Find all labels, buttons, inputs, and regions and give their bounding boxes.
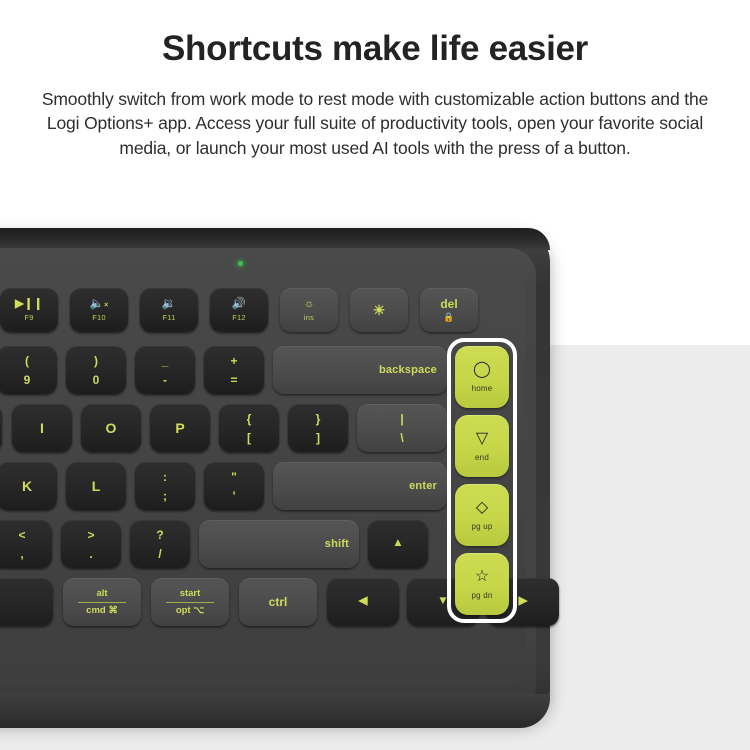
key-sub-label: ins — [304, 314, 314, 322]
key-label: pg up — [471, 522, 492, 531]
key-comma[interactable]: < , — [0, 520, 52, 568]
key-sub-label: F9 — [24, 314, 33, 322]
key-upper-legend: ? — [156, 529, 163, 541]
diamond-icon: ◇ — [476, 500, 488, 516]
key-lower-legend: 9 — [24, 374, 31, 386]
key-quote[interactable]: " ' — [204, 462, 264, 510]
key-backspace[interactable]: backspace — [273, 346, 447, 394]
key-bottom-legend: opt ⌥ — [176, 606, 204, 616]
key-p[interactable]: P — [150, 404, 210, 452]
key-arrow-up[interactable]: ▲ — [368, 520, 428, 568]
key-label: del — [440, 298, 457, 310]
key-start-opt[interactable]: start opt ⌥ — [151, 578, 229, 626]
key-semicolon[interactable]: : ; — [135, 462, 195, 510]
keyboard-bottom-lip — [0, 694, 550, 728]
key-lower-legend: = — [230, 374, 237, 386]
key-bracket-right[interactable]: } ] — [288, 404, 348, 452]
brightness-up-icon: ☀ — [373, 303, 386, 317]
key-upper-legend: | — [400, 413, 403, 425]
key-upper-legend: : — [163, 471, 167, 483]
key-label: L — [92, 479, 101, 493]
key-label: end — [475, 453, 489, 462]
volume-mute-icon: 🔈× — [90, 299, 108, 311]
key-end-shortcut[interactable]: ▽ end — [455, 415, 509, 477]
key-equals[interactable]: + = — [204, 346, 264, 394]
brightness-down-icon: ☼ — [304, 299, 315, 311]
key-label: ctrl — [269, 596, 288, 608]
key-lower-legend: . — [89, 548, 92, 560]
key-label: pg dn — [471, 591, 492, 600]
key-lower-legend: ' — [233, 490, 236, 502]
key-spacebar-partial[interactable] — [0, 578, 53, 626]
key-lower-legend: - — [163, 374, 167, 386]
key-o[interactable]: O — [81, 404, 141, 452]
key-label: backspace — [379, 364, 437, 376]
key-del[interactable]: del 🔒 — [420, 288, 478, 332]
key-shift-right[interactable]: shift — [199, 520, 359, 568]
key-label: home — [472, 384, 493, 393]
key-sub-label: F11 — [163, 314, 176, 322]
arrow-up-icon: ▲ — [392, 538, 403, 550]
lock-icon: 🔒 — [443, 313, 454, 322]
key-f12-volume-up[interactable]: 🔊 F12 — [210, 288, 268, 332]
key-f11-volume-down[interactable]: 🔉 F11 — [140, 288, 198, 332]
key-label: I — [40, 421, 44, 435]
play-pause-icon: ▶❙❙ — [15, 299, 43, 311]
key-top-legend: alt — [96, 589, 107, 599]
key-pgup-shortcut[interactable]: ◇ pg up — [455, 484, 509, 546]
key-upper-legend: > — [87, 529, 94, 541]
key-divider — [78, 602, 126, 603]
key-backslash[interactable]: | \ — [357, 404, 447, 452]
key-period[interactable]: > . — [61, 520, 121, 568]
key-l[interactable]: L — [66, 462, 126, 510]
page-title: Shortcuts make life easier — [0, 30, 750, 69]
key-lower-legend: ; — [163, 490, 167, 502]
key-label: shift — [325, 538, 349, 550]
arrow-down-icon: ▼ — [437, 596, 448, 608]
key-upper-legend: " — [231, 471, 237, 483]
volume-up-icon: 🔊 — [232, 299, 246, 311]
key-brightness-down[interactable]: ☼ ins — [280, 288, 338, 332]
arrow-left-icon: ◀ — [359, 596, 368, 608]
circle-icon: ◯ — [473, 362, 491, 378]
key-lower-legend: 0 — [93, 374, 100, 386]
key-label: P — [175, 421, 184, 435]
key-alt-cmd[interactable]: alt cmd ⌘ — [63, 578, 141, 626]
keyboard-photo: ◀◀ F8 ▶❙❙ F9 🔈× F10 🔉 F11 🔊 F12 ☼ ins ☀ … — [0, 228, 550, 728]
key-slash[interactable]: ? / — [130, 520, 190, 568]
key-bottom-legend: cmd ⌘ — [86, 606, 118, 616]
key-sub-label: F12 — [232, 314, 246, 322]
key-arrow-left[interactable]: ◀ — [327, 578, 399, 626]
key-i[interactable]: I — [12, 404, 72, 452]
key-lower-legend: / — [158, 548, 161, 560]
key-top-legend: start — [180, 589, 201, 599]
key-ctrl[interactable]: ctrl — [239, 578, 317, 626]
key-f10-mute[interactable]: 🔈× F10 — [70, 288, 128, 332]
star-icon: ☆ — [475, 569, 489, 585]
key-label: enter — [409, 480, 437, 492]
volume-down-icon: 🔉 — [162, 299, 176, 311]
key-brightness-up[interactable]: ☀ — [350, 288, 408, 332]
key-k[interactable]: K — [0, 462, 57, 510]
key-home-shortcut[interactable]: ◯ home — [455, 346, 509, 408]
key-upper-legend: _ — [162, 355, 169, 367]
key-upper-legend: ( — [25, 355, 29, 367]
key-lower-legend: ] — [316, 432, 320, 444]
key-upper-legend: + — [230, 355, 237, 367]
key-divider — [166, 602, 214, 603]
key-sub-label: F10 — [92, 314, 106, 322]
key-upper-legend: ) — [94, 355, 98, 367]
key-lower-legend: [ — [247, 432, 251, 444]
status-led-icon — [238, 261, 243, 266]
key-label: K — [22, 479, 32, 493]
key-label: O — [106, 421, 117, 435]
page-description: Smoothly switch from work mode to rest m… — [25, 87, 725, 162]
triangle-down-icon: ▽ — [476, 431, 488, 447]
key-upper-legend: { — [247, 413, 252, 425]
key-upper-legend: } — [316, 413, 321, 425]
key-enter[interactable]: enter — [273, 462, 447, 510]
arrow-right-icon: ▶ — [519, 596, 528, 608]
key-9[interactable]: ( 9 — [0, 346, 57, 394]
key-bracket-left[interactable]: { [ — [219, 404, 279, 452]
key-0[interactable]: ) 0 — [66, 346, 126, 394]
key-pgdn-shortcut[interactable]: ☆ pg dn — [455, 553, 509, 615]
key-lower-legend: \ — [400, 432, 403, 444]
key-minus[interactable]: _ - — [135, 346, 195, 394]
key-f9-playpause[interactable]: ▶❙❙ F9 — [0, 288, 58, 332]
keyboard-top-lip — [0, 228, 550, 250]
key-upper-legend: < — [18, 529, 25, 541]
marketing-copy-block: Shortcuts make life easier Smoothly swit… — [0, 0, 750, 161]
key-lower-legend: , — [20, 548, 23, 560]
